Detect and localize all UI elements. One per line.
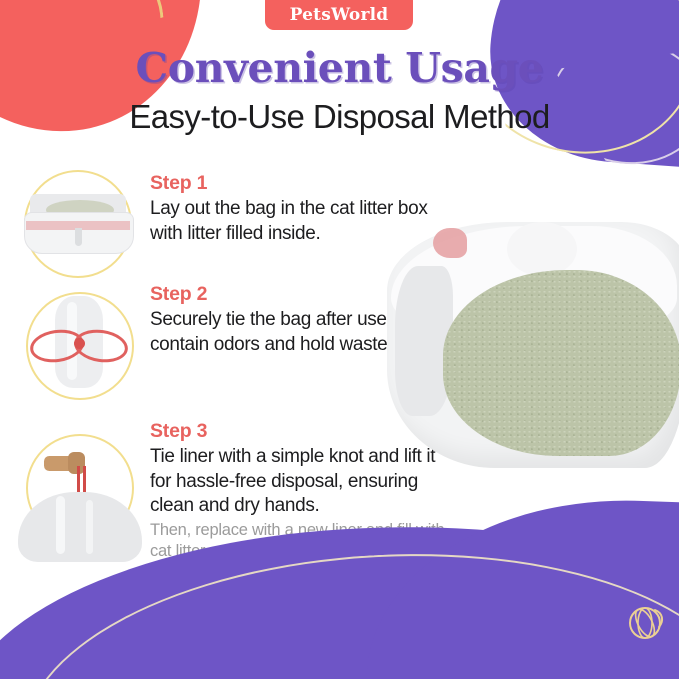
brand-name: PetsWorld xyxy=(290,0,389,25)
liner-pink-accent xyxy=(433,228,467,258)
cat-litter-granules xyxy=(443,270,679,456)
hand-lifting-bag-icon xyxy=(22,430,138,546)
litter-tray-graphic xyxy=(24,194,132,252)
tied-bag-with-bow-icon xyxy=(22,288,138,404)
page-title: Convenient Usage xyxy=(0,44,679,92)
page-subtitle: Easy-to-Use Disposal Method xyxy=(0,98,679,136)
liner-fold-top xyxy=(507,222,577,276)
yarn-ball-icon xyxy=(625,601,667,643)
step-1-heading: Step 1 xyxy=(150,172,460,195)
infographic-page: PetsWorld Convenient Usage Easy-to-Use D… xyxy=(0,0,679,679)
brand-badge: PetsWorld xyxy=(265,0,413,30)
product-photo xyxy=(387,222,679,468)
bow-knot xyxy=(74,338,85,349)
litter-box-with-liner-icon xyxy=(20,166,136,282)
step-3-note: Then, replace with a new liner and fill … xyxy=(150,520,460,562)
